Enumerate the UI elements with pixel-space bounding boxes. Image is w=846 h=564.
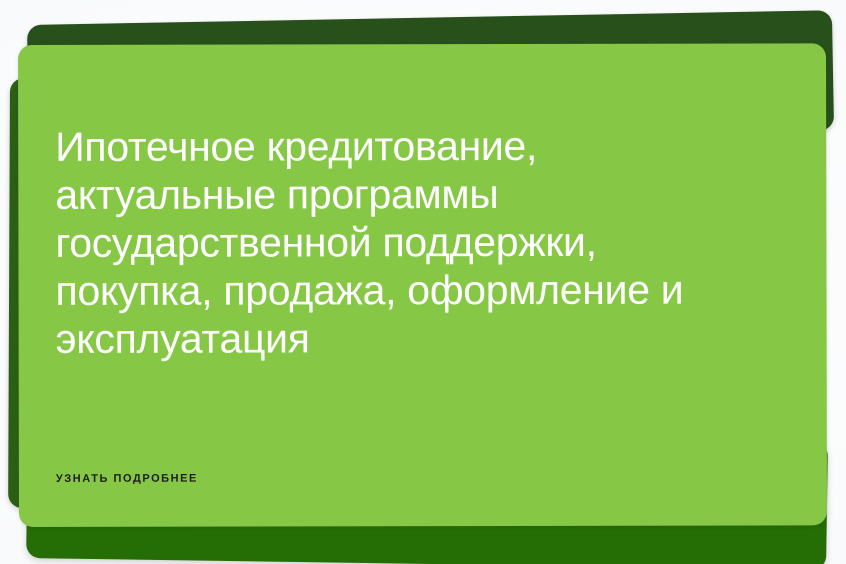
promo-card[interactable]: Ипотечное кредитование, актуальные прогр…	[18, 43, 827, 527]
slide-canvas: Ипотечное кредитование, актуальные прогр…	[0, 0, 846, 564]
page-title: Ипотечное кредитование, актуальные прогр…	[55, 121, 827, 363]
promo-card-body: Ипотечное кредитование, актуальные прогр…	[18, 43, 827, 527]
card-stack: Ипотечное кредитование, актуальные прогр…	[0, 0, 846, 564]
learn-more-button[interactable]: Узнать подробнее	[56, 473, 198, 485]
